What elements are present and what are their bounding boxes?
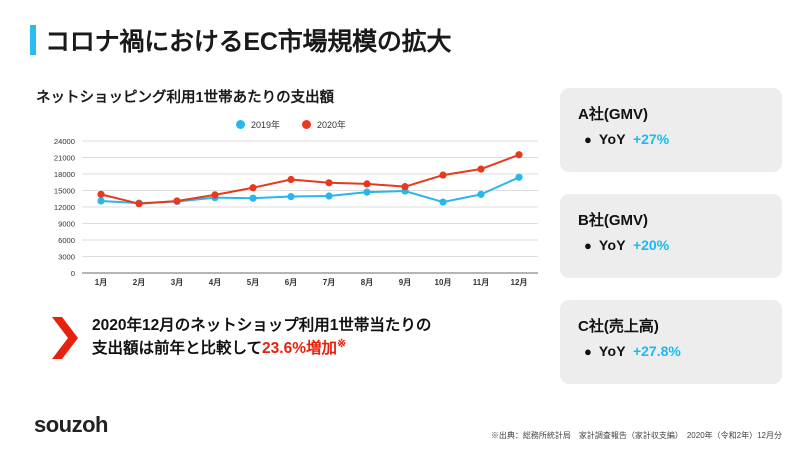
chart-svg: 030006000900012000150001800021000240001月… (36, 135, 546, 295)
y-axis-tick-label: 18000 (54, 170, 75, 179)
stat-card-metric: ● YoY +20% (578, 237, 764, 253)
souzoh-logo: souzoh (34, 412, 108, 438)
stat-card-metric: ● YoY +27.8% (578, 343, 764, 359)
y-axis-tick-label: 12000 (54, 203, 75, 212)
callout-line-2: 支出額は前年と比較して23.6%増加※ (92, 337, 431, 361)
stat-card-title: C社(売上高) (578, 315, 764, 336)
legend-item-2019[interactable]: 2019年 (236, 118, 280, 131)
data-point (97, 197, 104, 204)
y-axis-tick-label: 24000 (54, 137, 75, 146)
data-point (173, 197, 180, 204)
metric-label: YoY (599, 343, 626, 359)
line-chart-plot: 030006000900012000150001800021000240001月… (36, 135, 546, 295)
data-point (211, 191, 218, 198)
x-axis-tick-label: 10月 (435, 278, 452, 287)
metric-label: YoY (599, 131, 626, 147)
x-axis-tick-label: 5月 (247, 278, 259, 287)
stat-card-title: B社(GMV) (578, 209, 764, 230)
callout-line-1: 2020年12月のネットショップ利用1世帯当たりの (92, 315, 431, 337)
callout-asterisk: ※ (337, 338, 346, 350)
bullet-icon: ● (584, 239, 592, 252)
data-point (249, 184, 256, 191)
x-axis-tick-label: 1月 (95, 278, 107, 287)
legend-label: 2019年 (251, 118, 280, 131)
y-axis-tick-label: 21000 (54, 154, 75, 163)
legend-item-2020[interactable]: 2020年 (302, 118, 346, 131)
chart-legend: 2019年 2020年 (36, 117, 546, 131)
data-point (439, 172, 446, 179)
x-axis-tick-label: 6月 (285, 278, 297, 287)
data-point (477, 191, 484, 198)
callout-line-2-prefix: 支出額は前年と比較して (92, 341, 262, 358)
data-point (363, 180, 370, 187)
metric-value: +27.8% (633, 343, 681, 359)
chart-title: ネットショッピング利用1世帯あたりの支出額 (36, 86, 546, 107)
chevron-right-icon (52, 317, 78, 359)
data-point (325, 179, 332, 186)
callout-text: 2020年12月のネットショップ利用1世帯当たりの 支出額は前年と比較して23.… (92, 315, 431, 361)
bullet-icon: ● (584, 345, 592, 358)
page-title: コロナ禍におけるEC市場規模の拡大 (45, 22, 451, 58)
y-axis-tick-label: 9000 (58, 220, 75, 229)
data-point (439, 198, 446, 205)
stat-card-title: A社(GMV) (578, 103, 764, 124)
x-axis-tick-label: 7月 (323, 278, 335, 287)
x-axis-tick-label: 4月 (209, 278, 221, 287)
slide-header: コロナ禍におけるEC市場規模の拡大 (30, 22, 451, 58)
data-point (135, 200, 142, 207)
data-point (477, 165, 484, 172)
x-axis-tick-label: 3月 (171, 278, 183, 287)
x-axis-tick-label: 8月 (361, 278, 373, 287)
x-axis-tick-label: 9月 (399, 278, 411, 287)
stat-card-c[interactable]: C社(売上高) ● YoY +27.8% (560, 300, 782, 384)
legend-swatch-icon (236, 120, 245, 129)
y-axis-tick-label: 15000 (54, 187, 75, 196)
data-point (97, 191, 104, 198)
stat-card-b[interactable]: B社(GMV) ● YoY +20% (560, 194, 782, 278)
data-point (363, 189, 370, 196)
x-axis-tick-label: 2月 (133, 278, 145, 287)
y-axis-tick-label: 0 (71, 269, 75, 278)
title-accent-bar (30, 25, 36, 55)
data-point (325, 192, 332, 199)
stat-card-a[interactable]: A社(GMV) ● YoY +27% (560, 88, 782, 172)
data-point (401, 183, 408, 190)
y-axis-tick-label: 3000 (58, 253, 75, 262)
data-point (287, 176, 294, 183)
data-point (515, 151, 522, 158)
data-point (249, 195, 256, 202)
legend-swatch-icon (302, 120, 311, 129)
metric-value: +20% (633, 237, 669, 253)
source-note: ※出典：総務所統計局 家計調査報告（家計収支編） 2020年（令和2年）12月分 (491, 430, 782, 441)
chart-panel: ネットショッピング利用1世帯あたりの支出額 2019年 2020年 030006… (36, 86, 546, 295)
data-point (515, 174, 522, 181)
stat-card-metric: ● YoY +27% (578, 131, 764, 147)
x-axis-tick-label: 12月 (511, 278, 528, 287)
callout-highlight: 23.6%増加 (262, 341, 337, 358)
callout-block: 2020年12月のネットショップ利用1世帯当たりの 支出額は前年と比較して23.… (52, 315, 431, 361)
legend-label: 2020年 (317, 118, 346, 131)
metric-value: +27% (633, 131, 669, 147)
metric-label: YoY (599, 237, 626, 253)
data-point (287, 193, 294, 200)
x-axis-tick-label: 11月 (473, 278, 489, 287)
bullet-icon: ● (584, 133, 592, 146)
y-axis-tick-label: 6000 (58, 236, 75, 245)
